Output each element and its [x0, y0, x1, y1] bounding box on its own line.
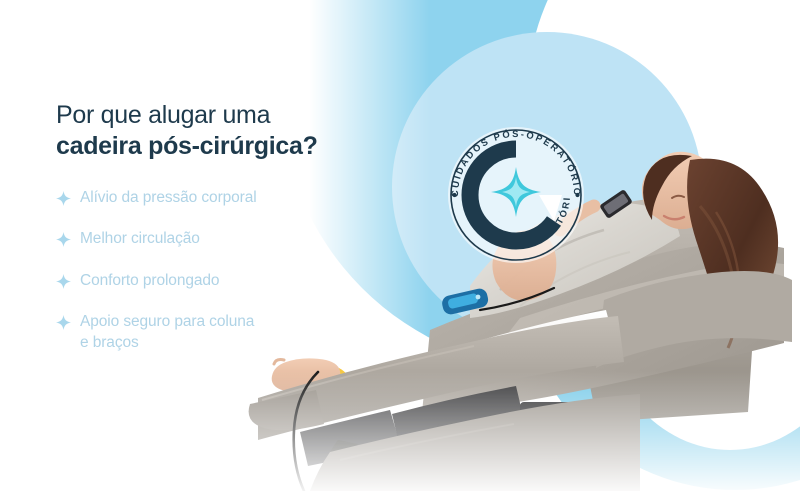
benefit-label: Alívio da pressão corporal	[80, 188, 257, 208]
list-item: Melhor circulação	[56, 229, 386, 249]
list-item: Alívio da pressão corporal	[56, 188, 386, 208]
logo-dot-right	[575, 193, 579, 197]
page-title: Por que alugar uma cadeira pós-cirúrgica…	[56, 100, 386, 162]
headline-line-1: Por que alugar uma	[56, 100, 386, 131]
benefit-label: Apoio seguro para coluna e braços	[80, 312, 254, 353]
benefit-label: Melhor circulação	[80, 229, 200, 249]
benefits-list: Alívio da pressão corporal Melhor circul…	[56, 188, 386, 353]
logo-dot-left	[452, 193, 456, 197]
brand-logo: CUIDADOS PÓS-OPERATÓRIO CUIDADOS PÓS-OPE…	[441, 120, 591, 270]
benefit-label: Conforto prolongado	[80, 271, 219, 291]
sparkle-icon	[56, 315, 71, 330]
sparkle-icon	[56, 274, 71, 289]
promo-banner: Por que alugar uma cadeira pós-cirúrgica…	[0, 0, 800, 491]
copy-block: Por que alugar uma cadeira pós-cirúrgica…	[56, 100, 386, 353]
list-item: Conforto prolongado	[56, 271, 386, 291]
list-item: Apoio seguro para coluna e braços	[56, 312, 386, 353]
sparkle-icon	[56, 191, 71, 206]
headline-line-2: cadeira pós-cirúrgica?	[56, 131, 386, 162]
sparkle-icon	[56, 232, 71, 247]
